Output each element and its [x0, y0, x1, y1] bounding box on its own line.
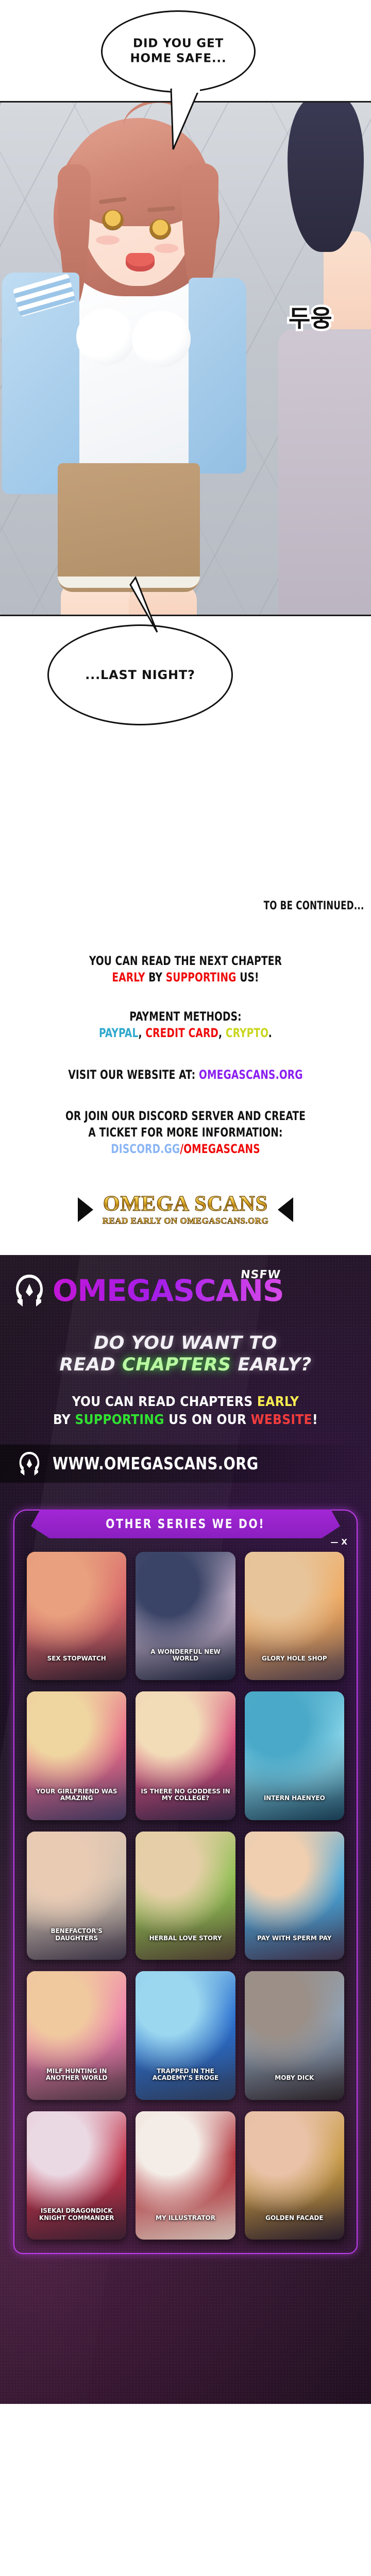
- window-controls[interactable]: —X: [330, 1537, 350, 1547]
- series-thumbnail[interactable]: HERBAL LOVE STORY: [136, 1832, 235, 1960]
- subline-supporting-word: SUPPORTING: [75, 1412, 164, 1428]
- visit-website-line: VISIT OUR WEBSITE AT: OMEGASCANS.ORG: [26, 1066, 345, 1083]
- series-thumbnail[interactable]: TRAPPED IN THE ACADEMY'S EROGE: [136, 1971, 235, 2099]
- gold-logo-text: OMEGA SCANS READ EARLY ON OMEGASCANS.ORG: [103, 1193, 269, 1226]
- gold-logo-subtitle: READ EARLY ON OMEGASCANS.ORG: [103, 1216, 269, 1226]
- visit-label: VISIT OUR WEBSITE AT:: [68, 1067, 199, 1082]
- other-series-title: OTHER SERIES WE DO!: [106, 1516, 265, 1531]
- character-jacket-right: [189, 278, 246, 473]
- series-thumbnail[interactable]: YOUR GIRLFRIEND WAS AMAZING: [27, 1691, 126, 1820]
- discord-invite-link[interactable]: DISCORD.GG/OMEGASCANS: [26, 1141, 345, 1157]
- speech-tail-top-icon: [170, 89, 201, 150]
- series-thumbnail[interactable]: GOLDEN FACADE: [245, 2111, 344, 2240]
- discord-domain: DISCORD.GG: [111, 1142, 180, 1156]
- omegascans-nsfw-banner: OMEGASCANS NSFW DO YOU WANT TO READ CHAP…: [0, 1255, 371, 2404]
- comic-gutter-top: DID YOU GET HOME SAFE...: [0, 0, 371, 101]
- series-thumbnail-title: YOUR GIRLFRIEND WAS AMAZING: [27, 1788, 126, 1802]
- gold-logo-main: OMEGA SCANS: [103, 1193, 269, 1215]
- website-url-link[interactable]: OMEGASCANS.ORG: [199, 1067, 303, 1082]
- spacer: [0, 912, 371, 953]
- payment-crypto: CRYPTO: [226, 1026, 268, 1040]
- series-thumbnail[interactable]: MOBY DICK: [245, 1971, 344, 2099]
- payment-credit-card: CREDIT CARD: [145, 1026, 218, 1040]
- omega-logo-icon: [13, 1273, 45, 1309]
- speech-bubble-top: DID YOU GET HOME SAFE...: [101, 10, 256, 93]
- banner-subline: YOU CAN READ CHAPTERS EARLY BY SUPPORTIN…: [0, 1393, 371, 1429]
- series-thumbnail-title: ISEKAI DRAGONDICK KNIGHT COMMANDER: [27, 2208, 126, 2222]
- promo-by-word: BY: [145, 970, 166, 985]
- sound-effect-korean: 두웅: [289, 308, 332, 329]
- discord-line-2: A TICKET FOR MORE INFORMATION:: [26, 1124, 345, 1141]
- triangle-left-icon: [78, 1197, 93, 1222]
- series-thumbnail-title: GLORY HOLE SHOP: [245, 1655, 344, 1662]
- comic-panel-artwork: 두웅: [0, 101, 371, 616]
- series-thumbnail[interactable]: SEX STOPWATCH: [27, 1552, 126, 1680]
- banner-brand-row: OMEGASCANS NSFW: [0, 1255, 371, 1309]
- banner-footer-spacer: [0, 2254, 371, 2331]
- speech-bubble-bottom: ...LAST NIGHT?: [47, 624, 233, 725]
- payment-sep-1: ,: [138, 1026, 145, 1040]
- credits-spacer: [0, 745, 371, 900]
- other-series-title-bar: OTHER SERIES WE DO!: [31, 1510, 340, 1538]
- subline-website-word: WEBSITE: [251, 1412, 312, 1428]
- promo-line-2: EARLY BY SUPPORTING US!: [26, 969, 345, 986]
- series-thumbnail[interactable]: A WONDERFUL NEW WORLD: [136, 1552, 235, 1680]
- omega-logo-small-icon: [18, 1450, 41, 1477]
- series-thumbnail-title: MY ILLUSTRATOR: [136, 2215, 235, 2222]
- close-icon[interactable]: X: [341, 1537, 350, 1547]
- series-thumbnail-title: BENEFACTOR'S DAUGHTERS: [27, 1928, 126, 1942]
- minimize-icon[interactable]: —: [330, 1537, 341, 1547]
- brand-nsfw-tag: NSFW: [240, 1268, 281, 1281]
- subline-early-word: EARLY: [257, 1394, 299, 1410]
- character-shirt: [62, 273, 197, 489]
- series-thumbnail[interactable]: MILF HUNTING IN ANOTHER WORLD: [27, 1971, 126, 2099]
- series-thumbnail[interactable]: MY ILLUSTRATOR: [136, 2111, 235, 2240]
- headline-chapters-word: CHAPTERS: [122, 1354, 231, 1375]
- series-thumbnail-title: A WONDERFUL NEW WORLD: [136, 1649, 235, 1663]
- promo-text-block: YOU CAN READ THE NEXT CHAPTER EARLY BY S…: [0, 953, 371, 1157]
- promo-us-word: US!: [237, 970, 259, 985]
- series-thumbnail[interactable]: GLORY HOLE SHOP: [245, 1552, 344, 1680]
- subline-line-1: YOU CAN READ CHAPTERS EARLY: [0, 1393, 371, 1411]
- character-eye-left: [102, 210, 124, 230]
- series-thumbnail-title: INTERN HAENYEO: [245, 1795, 344, 1802]
- speech-tail-bottom-icon: [126, 577, 167, 633]
- headline-line-2: READ CHAPTERS EARLY?: [0, 1354, 371, 1376]
- series-thumbnail-title: PAY WITH SPERM PAY: [245, 1935, 344, 1942]
- character-blush-left: [96, 235, 120, 245]
- discord-line-1: OR JOIN OUR DISCORD SERVER AND CREATE: [26, 1108, 345, 1124]
- payment-paypal: PAYPAL: [99, 1026, 138, 1040]
- banner-website-url[interactable]: WWW.OMEGASCANS.ORG: [53, 1453, 259, 1473]
- payment-methods-heading: PAYMENT METHODS:: [26, 1008, 345, 1025]
- series-thumbnail[interactable]: BENEFACTOR'S DAUGHTERS: [27, 1832, 126, 1960]
- promo-early-word: EARLY: [112, 970, 145, 985]
- series-thumbnail-title: TRAPPED IN THE ACADEMY'S EROGE: [136, 2068, 235, 2082]
- series-thumbnail-title: MILF HUNTING IN ANOTHER WORLD: [27, 2068, 126, 2082]
- character-chest-right: [132, 311, 191, 367]
- banner-brand-text: OMEGASCANS NSFW: [53, 1276, 284, 1306]
- comic-gutter-bottom: ...LAST NIGHT?: [0, 616, 371, 745]
- other-series-grid: SEX STOPWATCHA WONDERFUL NEW WORLDGLORY …: [14, 1538, 357, 2242]
- character-shorts: [58, 463, 200, 592]
- series-thumbnail-title: GOLDEN FACADE: [245, 2215, 344, 2222]
- banner-url-bar[interactable]: WWW.OMEGASCANS.ORG: [0, 1445, 371, 1483]
- series-thumbnail[interactable]: ISEKAI DRAGONDICK KNIGHT COMMANDER: [27, 2111, 126, 2240]
- other-series-window: OTHER SERIES WE DO! —X SEX STOPWATCHA WO…: [13, 1510, 358, 2254]
- banner-headline: DO YOU WANT TO READ CHAPTERS EARLY?: [0, 1332, 371, 1376]
- discord-path: /OMEGASCANS: [180, 1142, 260, 1156]
- omegascans-gold-logo: OMEGA SCANS READ EARLY ON OMEGASCANS.ORG: [0, 1193, 371, 1226]
- character-chest-left: [76, 309, 135, 365]
- bubble-line-1: DID YOU GET: [103, 37, 254, 52]
- to-be-continued-label: TO BE CONTINUED...: [59, 900, 371, 912]
- triangle-right-icon: [278, 1197, 293, 1222]
- series-thumbnail-title: HERBAL LOVE STORY: [136, 1935, 235, 1942]
- character-secondary-body: [278, 329, 371, 616]
- payment-period: .: [268, 1026, 272, 1040]
- series-thumbnail-title: SEX STOPWATCH: [27, 1655, 126, 1662]
- promo-supporting-word: SUPPORTING: [166, 970, 237, 985]
- subline-line-2: BY SUPPORTING US ON OUR WEBSITE!: [0, 1411, 371, 1429]
- speech-bubble-bottom-text: ...LAST NIGHT?: [49, 668, 231, 682]
- series-thumbnail[interactable]: INTERN HAENYEO: [245, 1691, 344, 1820]
- series-thumbnail-title: IS THERE NO GODDESS IN MY COLLEGE?: [136, 1788, 235, 1802]
- speech-bubble-top-text: DID YOU GET HOME SAFE...: [103, 37, 254, 67]
- series-thumbnail[interactable]: IS THERE NO GODDESS IN MY COLLEGE?: [136, 1691, 235, 1820]
- headline-line-1: DO YOU WANT TO: [0, 1332, 371, 1354]
- character-eye-right: [149, 219, 171, 240]
- payment-methods-list: PAYPAL, CREDIT CARD, CRYPTO.: [26, 1025, 345, 1041]
- series-thumbnail[interactable]: PAY WITH SPERM PAY: [245, 1832, 344, 1960]
- character-blush-right: [155, 244, 178, 253]
- payment-sep-2: ,: [218, 1026, 226, 1040]
- bubble-line-2: HOME SAFE...: [103, 52, 254, 66]
- promo-line-1: YOU CAN READ THE NEXT CHAPTER: [26, 953, 345, 969]
- series-thumbnail-title: MOBY DICK: [245, 2075, 344, 2081]
- webtoon-chapter-page: DID YOU GET HOME SAFE...: [0, 0, 371, 2404]
- character-mouth: [126, 253, 155, 272]
